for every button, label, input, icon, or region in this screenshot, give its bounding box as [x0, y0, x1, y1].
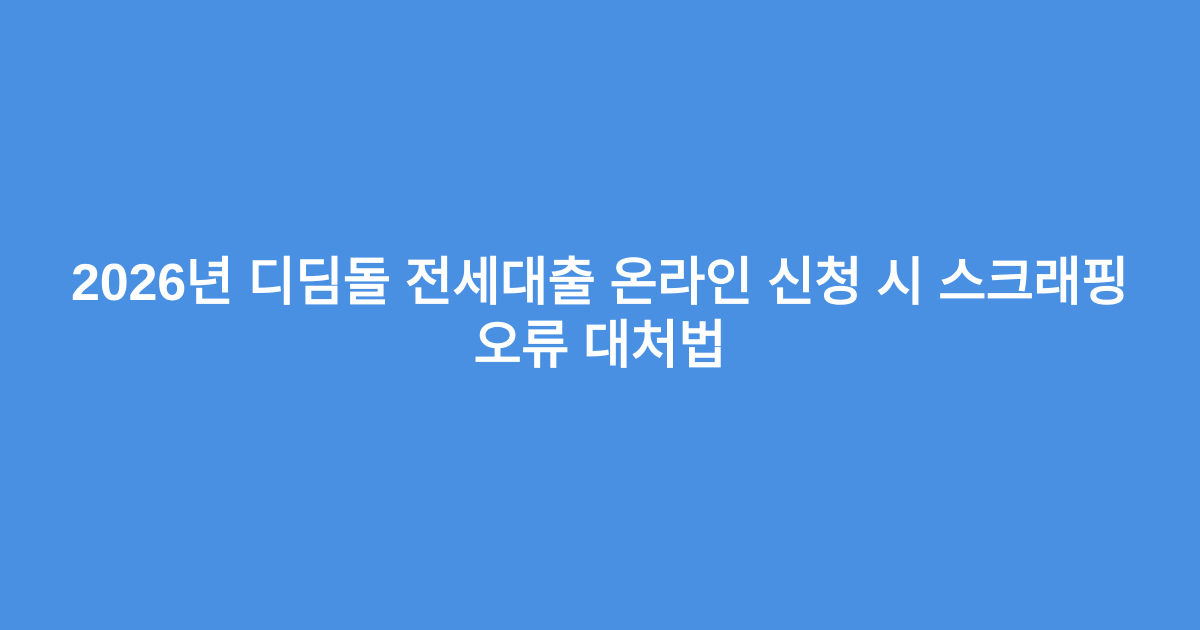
page-title: 2026년 디딤돌 전세대출 온라인 신청 시 스크래핑 오류 대처법 [60, 252, 1140, 378]
og-card: 2026년 디딤돌 전세대출 온라인 신청 시 스크래핑 오류 대처법 [0, 0, 1200, 630]
headline-block: 2026년 디딤돌 전세대출 온라인 신청 시 스크래핑 오류 대처법 [60, 252, 1140, 378]
